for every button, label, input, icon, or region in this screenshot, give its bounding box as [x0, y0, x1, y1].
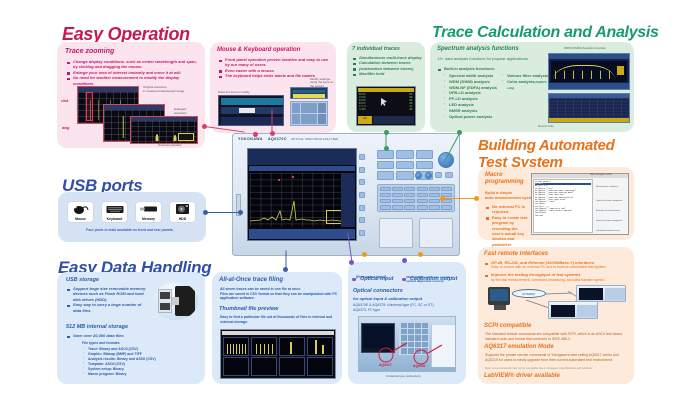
analysis-list-left: Spectral width analysis WDM (DWM) analys…	[444, 73, 499, 119]
list-item: GP-IB, RS-232, and Ethernet (10/100Base-…	[485, 260, 631, 270]
keyboard-icon	[106, 202, 124, 217]
trace-zooming-bullets: Change display conditions, such as cente…	[67, 59, 199, 86]
usb-icon-keyboard: Keyboard	[101, 201, 128, 223]
instrument-softkey-column[interactable]	[359, 154, 365, 236]
screenshot-thumbnail-preview	[220, 329, 336, 379]
trace-filing-title: All-at-Once trace filing	[219, 277, 283, 283]
hard-disk-icon	[175, 202, 190, 217]
thumbnail-preview-body: Easy to find a particular file out of th…	[220, 315, 338, 324]
usb-ports-caption: Four ports in total available on front a…	[86, 228, 174, 232]
scpi-body: The standard remote commands are compati…	[485, 332, 631, 341]
list-item: Support large size removable memory devi…	[67, 286, 149, 302]
photo-usb-memory	[153, 282, 198, 320]
annotation: Control of external equipment	[596, 220, 622, 222]
usb-icon-memory: Memory	[135, 201, 162, 223]
annotation: Measurement conditions	[596, 186, 618, 188]
internal-storage-title: 512 MB internal storage	[66, 324, 128, 330]
leader-dot-spectrum-analysis	[457, 130, 462, 135]
list-item: Easy way to carry a large number of data…	[67, 302, 149, 313]
list-item: Macro program: Binary	[83, 372, 193, 377]
caption-enlarged-waveform: Enlarged waveform	[174, 108, 187, 115]
mouse-keyboard-title: Mouse & Keyboard operation	[217, 47, 300, 53]
thumbnail-preview-title: Thumbnail file preview	[219, 306, 278, 312]
list-item: No need for another measurement to modif…	[67, 75, 199, 86]
usb-icon-label: Mouse	[75, 217, 86, 223]
calibration-output-note: (Wavelength reference source or optical …	[406, 275, 462, 283]
list-item: Built-in analysis functions:	[438, 66, 495, 71]
photo-label-aq6317: AQ6317	[379, 363, 392, 367]
trace-row: G:FIX-RL	[358, 108, 414, 111]
optical-connectors-line2: AQ6373: FC type	[353, 308, 380, 312]
list-item: Front panel operation proven intuitive a…	[219, 57, 331, 68]
leader-line	[272, 110, 273, 134]
analysis-list-right: Various filter analysis Color analysis(A…	[502, 73, 550, 90]
leader-dot-traces-target	[384, 146, 389, 151]
macro-lead: Build a simple auto-measurement system	[485, 190, 536, 200]
section-title-trace-calculation: Trace Calculation and Analysis	[432, 24, 659, 42]
click-label: click	[61, 99, 69, 103]
trace-zooming-title: Trace zooming	[65, 48, 114, 55]
card-usb-ports: Mouse Keyboard Memory HDD Four ports in …	[58, 192, 206, 242]
remote-title: Fast remote interfaces	[484, 251, 548, 257]
macro-title: Macro programming	[485, 172, 524, 186]
macro-annotations: Measurement conditions Control of extern…	[596, 180, 627, 233]
caption-original-waveform: Original waveform in measured wavelength…	[143, 86, 184, 93]
leader-dot-usb-ports	[203, 210, 208, 215]
annotation: Execution of measurement	[596, 210, 620, 212]
emulation-footnote: Note: some commands may not be compatibl…	[485, 367, 593, 370]
screenshot-wdm-waveform	[548, 53, 630, 90]
caption-point-item: Point the item to modify.	[218, 90, 250, 94]
bullet-body: Easy to control with an external PC and …	[491, 265, 631, 270]
instrument-photo: YOKOGAWA AQ6370C OPTICAL SPECTRUM ANALYZ…	[232, 133, 460, 256]
macro-code-listing: 10 REM MACRO 1 20 @CLS 30 @CTL 1,0 40 @W…	[533, 179, 593, 233]
scpi-title: SCPI compatible	[484, 323, 531, 329]
list-item: Save over 20,000 data files	[67, 333, 124, 338]
optical-input-note: (Free space input)	[356, 275, 386, 279]
usb-icon-mouse: Mouse	[67, 201, 94, 223]
instrument-thumb-2	[548, 301, 598, 319]
emulation-body: Supports the private remote commands of …	[485, 353, 631, 362]
leader-dot-usb-target	[238, 210, 243, 215]
leader-dot-trace-filing	[283, 267, 288, 272]
usb-storage-title: USB storage	[66, 277, 99, 283]
spectrum-analysis-title: Spectrum analysis functions	[437, 46, 519, 52]
optical-connectors-title: Optical connectors	[353, 288, 403, 294]
card-mouse-keyboard: Mouse & Keyboard operation Front panel o…	[210, 42, 336, 133]
trace-unit-button[interactable]: nm	[358, 116, 372, 124]
file-types-list: Trace: Binary and ASCII (CSV) Graphic: B…	[83, 347, 193, 377]
labview-title: LabVIEW® driver available	[484, 373, 560, 379]
internal-storage-bullet: Save over 20,000 data files	[67, 333, 124, 338]
leader-dot-macro	[474, 196, 479, 201]
list-item: Color analysis(AQ6373 only)	[502, 79, 550, 91]
card-trace-zooming: Trace zooming Change display conditions,…	[57, 42, 205, 148]
leader-line	[206, 212, 240, 213]
card-spectrum-analysis: Spectrum analysis functions 13+ data ana…	[430, 42, 634, 132]
bullet-body: by the fast measurement, command process…	[491, 278, 631, 283]
trace-filing-body: All seven traces can be saved in one fil…	[220, 287, 338, 301]
usb-icon-label: Memory	[142, 217, 155, 223]
screenshot-value-readout	[290, 87, 328, 99]
list-item: No external PC is required.	[486, 204, 528, 215]
seven-traces-title: 7 individual traces	[352, 46, 400, 52]
bullet-dot-icon	[402, 278, 406, 282]
instrument-arrow-keys[interactable]	[415, 172, 453, 179]
leader-dot-optical-input	[349, 260, 354, 265]
leader-dot-calibration-output	[402, 258, 407, 263]
usb-icon-label: Keyboard	[107, 217, 123, 223]
instrument-rotary-knob[interactable]	[438, 152, 454, 168]
remote-bullets: GP-IB, RS-232, and Ethernet (10/100Base-…	[485, 260, 631, 282]
caption-modify-settings: Modify settings using the keys on the sc…	[310, 78, 334, 88]
code-line: 160 END	[535, 215, 591, 217]
drag-label: drag	[62, 126, 69, 130]
leader-dot-macro-target	[440, 196, 445, 201]
screenshot-macro-editor: Macro program editor 10 REM MACRO 1 20 @…	[531, 173, 629, 235]
instrument-display[interactable]	[247, 148, 357, 241]
builtin-label: Built-in analysis functions:	[438, 66, 495, 71]
leader-dot-instrument-screen	[270, 131, 275, 136]
screenshot-enlarged-waveform	[130, 116, 198, 144]
spectrum-analysis-lead: 13+ data analysis functions for popular …	[437, 56, 528, 61]
usb-icon-label: HDD	[179, 217, 186, 223]
leader-line	[440, 198, 476, 199]
emulation-title: AQ6317 emulation Mode	[484, 344, 554, 350]
list-item: Improve the testing throughput of test s…	[485, 272, 631, 282]
leader-dot-trace-zooming	[202, 124, 207, 129]
screenshot-trace-list: B:FIX-RL C:FIX-RL D:FIX-RL E:FIX-RL F:C-…	[356, 86, 416, 126]
annotation: Control of external equipment	[596, 200, 622, 202]
card-seven-traces: 7 individual traces Simultaneous multi-t…	[347, 42, 425, 132]
onscreen-keypad[interactable]	[290, 101, 328, 126]
leader-dot-port-a	[362, 252, 367, 257]
photo-caption-connectors: Universal type connectors	[386, 374, 421, 378]
photo-optical-connectors: AQ6317 AQ6091	[358, 316, 456, 372]
bullet-dot-icon	[352, 278, 356, 282]
instrument-thumb-1	[576, 285, 626, 302]
optical-input-port[interactable]	[379, 218, 413, 248]
usb-memory-icon	[140, 202, 158, 217]
optical-connectors-sub: for optical input & calibration output	[353, 296, 422, 301]
photo-label-aq6091: AQ6091	[413, 364, 426, 368]
brochure-page: Easy Operation Trace Calculation and Ana…	[0, 0, 680, 417]
leader-dot-seven-traces	[384, 130, 389, 135]
diagram-remote-network: ETHERNET	[484, 283, 630, 321]
usb-storage-bullets: Support large size removable memory devi…	[67, 286, 149, 313]
optical-connectors-line1: AQ6370E & AQ6375: Universal type (FC, SC…	[353, 303, 435, 307]
usb-icon-hdd: HDD	[169, 201, 196, 223]
card-remote-interfaces: Fast remote interfaces GP-IB, RS-232, an…	[478, 247, 634, 384]
card-optical-io: Optical input (Free space input) Calibra…	[348, 262, 466, 384]
screenshot-wdm-result-table	[548, 93, 630, 123]
mouse-keyboard-bullets: Front panel operation proven intuitive a…	[219, 57, 331, 79]
list-item: Optical power analysis	[444, 114, 499, 120]
instrument-brand: YOKOGAWA AQ6370C OPTICAL SPECTRUM ANALYZ…	[238, 137, 338, 141]
leader-dot-port-b	[418, 252, 423, 257]
leader-dot-display	[253, 132, 258, 137]
screenshot-settings-dialog	[218, 95, 284, 126]
macro-editor-title: Macro program editor	[590, 174, 612, 176]
caption-overview-window: Overview window	[158, 143, 181, 147]
seven-traces-bullets: Simultaneous multi-trace display Calcula…	[353, 55, 423, 77]
card-trace-filing: All-at-Once trace filing All seven trace…	[212, 272, 342, 384]
annotation: Calculation between traces	[596, 230, 620, 232]
list-item: Change display conditions, such as cente…	[67, 59, 199, 70]
list-item: Max/Min hold	[353, 71, 423, 76]
calibration-output-port[interactable]	[419, 218, 453, 248]
wdm-shot-title: WDM (DWM) Analysis Function	[564, 46, 606, 50]
result-table-caption: Result table	[538, 124, 554, 128]
card-usb-storage: USB storage Support large size removable…	[57, 272, 205, 384]
file-types-label: File types and formats:	[82, 341, 120, 345]
card-macro-programming: Macro programming Build a simple auto-me…	[478, 167, 634, 240]
mouse-icon	[73, 202, 89, 217]
